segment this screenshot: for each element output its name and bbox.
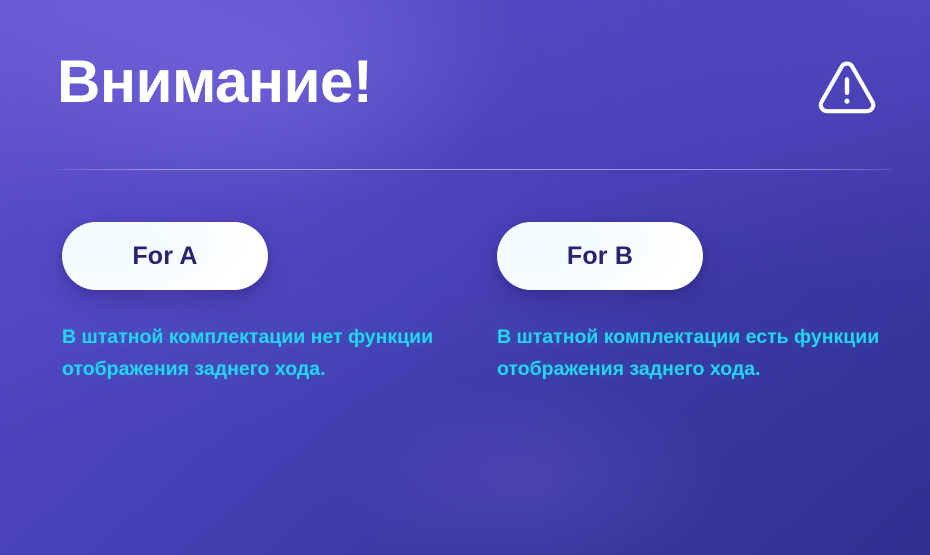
header: Внимание!	[0, 0, 930, 172]
pill-wrap-for-a: For A	[62, 196, 268, 264]
column-for-b: For B В штатной комплектации есть функци…	[497, 196, 897, 264]
pill-label-for-b: For B	[567, 242, 633, 271]
page-title: Внимание!	[57, 52, 372, 112]
pill-button-for-a[interactable]: For A	[62, 222, 268, 290]
header-divider	[58, 169, 891, 170]
note-text-for-a: В штатной комплектации нет функции отобр…	[62, 322, 444, 385]
pill-wrap-for-b: For B	[497, 196, 703, 264]
note-text-for-b: В штатной комплектации есть функции отоб…	[497, 322, 883, 385]
pill-label-for-a: For A	[132, 242, 197, 271]
pill-button-for-b[interactable]: For B	[497, 222, 703, 290]
warning-slide: Внимание! For A В штатной комплектации н…	[0, 0, 930, 555]
warning-triangle-icon	[816, 58, 878, 116]
column-for-a: For A В штатной комплектации нет функции…	[62, 196, 462, 264]
